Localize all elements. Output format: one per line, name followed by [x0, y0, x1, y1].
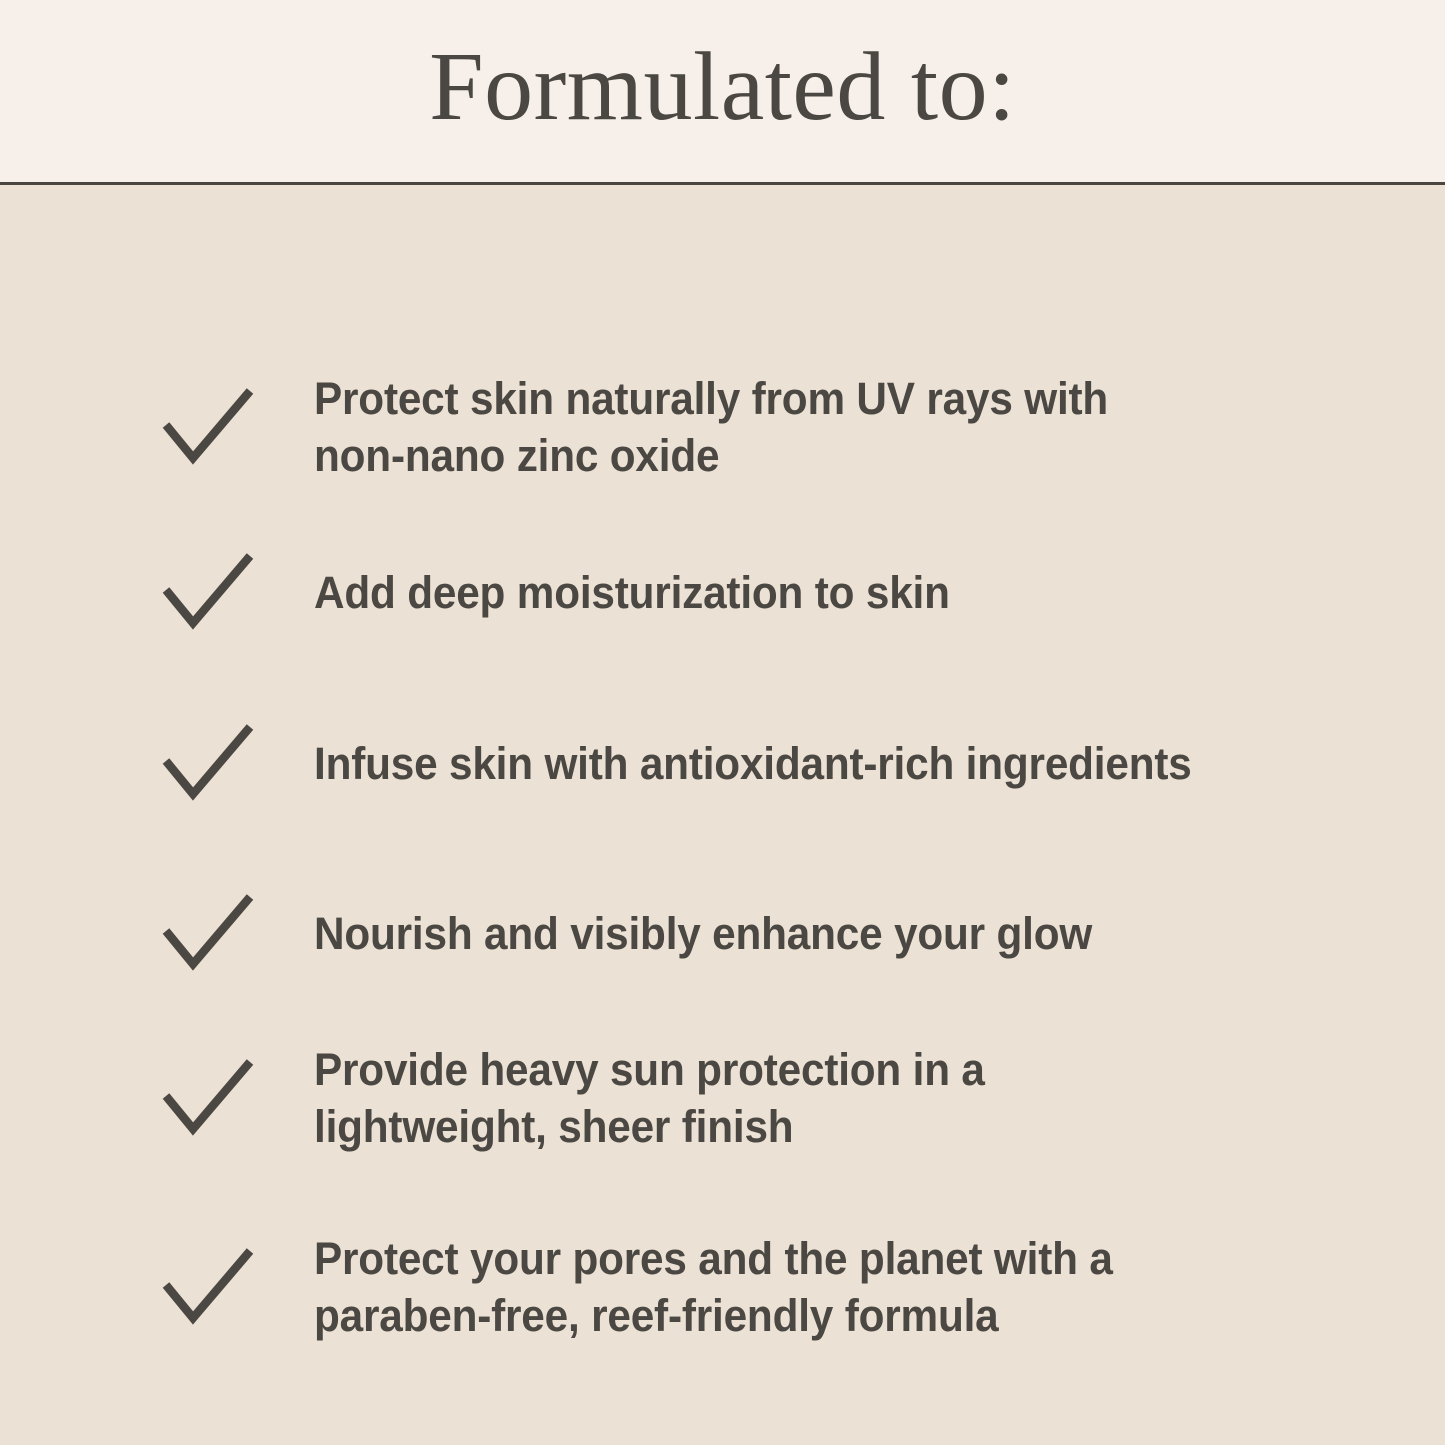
checkmark-icon	[162, 891, 254, 975]
checkmark-cell	[160, 385, 314, 469]
checkmark-icon	[162, 550, 254, 634]
checkmark-icon	[162, 721, 254, 805]
benefit-text: Provide heavy sun protection in a lightw…	[314, 1041, 1321, 1155]
checkmark-cell	[160, 721, 314, 805]
header-band: Formulated to:	[0, 0, 1445, 182]
list-item: Infuse skin with antioxidant-rich ingred…	[160, 721, 1385, 805]
benefit-text: Protect skin naturally from UV rays with…	[314, 370, 1321, 484]
formulated-to-panel: Formulated to: Protect skin naturally fr…	[0, 0, 1445, 1445]
list-item: Protect skin naturally from UV rays with…	[160, 370, 1385, 484]
list-item: Protect your pores and the planet with a…	[160, 1230, 1385, 1344]
checkmark-icon	[162, 1245, 254, 1329]
list-item: Provide heavy sun protection in a lightw…	[160, 1041, 1385, 1155]
benefit-text: Protect your pores and the planet with a…	[314, 1230, 1321, 1344]
checkmark-icon	[162, 385, 254, 469]
benefits-section: Protect skin naturally from UV rays with…	[0, 185, 1445, 1445]
page-title: Formulated to:	[429, 38, 1016, 144]
list-item: Add deep moisturization to skin	[160, 550, 1385, 634]
checkmark-icon	[162, 1056, 254, 1140]
benefit-text: Nourish and visibly enhance your glow	[314, 905, 1321, 962]
checkmark-cell	[160, 1245, 314, 1329]
benefit-list: Protect skin naturally from UV rays with…	[0, 185, 1445, 1445]
benefit-text: Infuse skin with antioxidant-rich ingred…	[314, 735, 1321, 792]
list-item: Nourish and visibly enhance your glow	[160, 891, 1385, 975]
benefit-text: Add deep moisturization to skin	[314, 564, 1321, 621]
checkmark-cell	[160, 1056, 314, 1140]
checkmark-cell	[160, 550, 314, 634]
checkmark-cell	[160, 891, 314, 975]
